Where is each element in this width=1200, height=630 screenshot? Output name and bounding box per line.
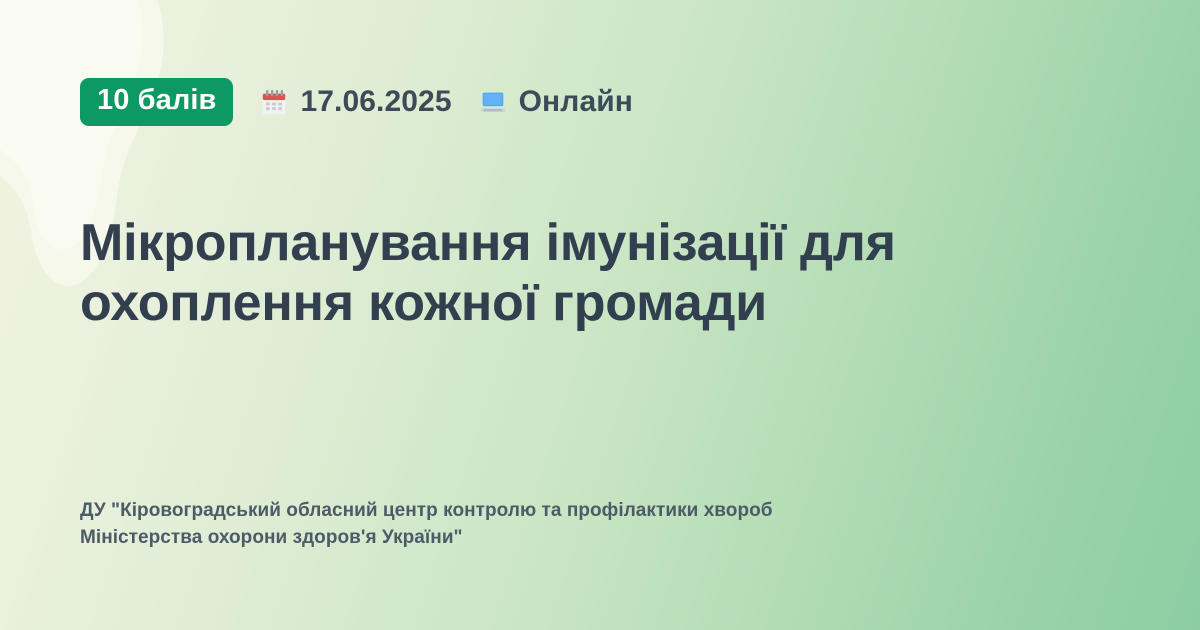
organizer-name: ДУ "Кіровоградський обласний центр контр… — [80, 498, 960, 552]
monitor-icon — [478, 87, 508, 117]
points-badge: 10 балів — [80, 78, 233, 126]
event-format-value: Онлайн — [519, 85, 633, 119]
organizer-line-2: Міністерства охорони здоров'я України" — [80, 525, 960, 552]
event-title: Мікропланування імунізації для охоплення… — [80, 213, 1010, 334]
event-card: 10 балів — [0, 0, 1200, 630]
event-date: 17.06.2025 — [259, 85, 451, 119]
event-title-line-2: охоплення кожної громади — [80, 273, 1010, 333]
event-title-line-1: Мікропланування імунізації для — [80, 213, 1010, 273]
organizer-line-1: ДУ "Кіровоградський обласний центр контр… — [80, 498, 960, 525]
calendar-icon — [259, 87, 289, 117]
card-content: 10 балів — [80, 0, 1120, 630]
event-format: Онлайн — [478, 85, 633, 119]
meta-row: 10 балів — [80, 78, 633, 126]
event-date-value: 17.06.2025 — [300, 85, 451, 119]
